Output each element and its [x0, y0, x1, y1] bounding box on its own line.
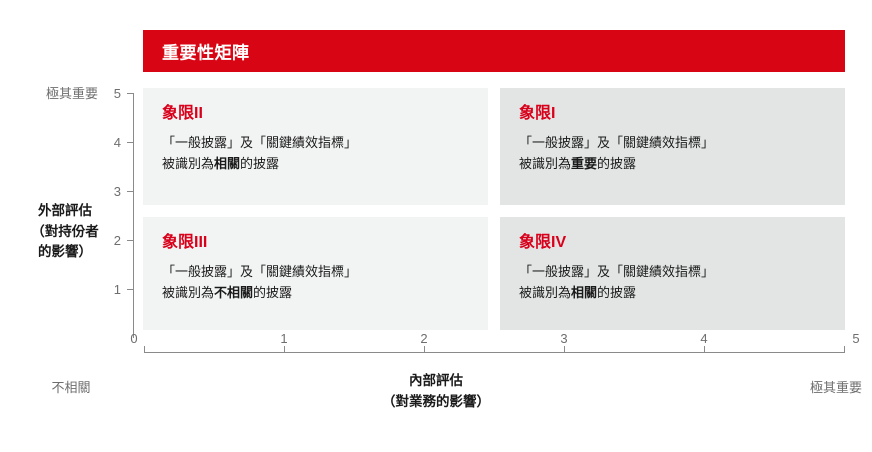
chart-title-bar: 重要性矩陣: [143, 30, 845, 72]
quadrant-4-line1: 「一般披露」及「關鍵績效指標」: [519, 261, 845, 282]
x-axis-title-line2: （對業務的影響）: [0, 392, 872, 413]
quadrant-3-line2: 被識別為不相關的披露: [162, 282, 488, 303]
quadrant-1-line1: 「一般披露」及「關鍵績效指標」: [519, 132, 845, 153]
quadrant-2-line2-prefix: 被識別為: [162, 156, 214, 171]
quadrant-1-box: 象限I 「一般披露」及「關鍵績效指標」 被識別為重要的披露: [500, 88, 845, 205]
quadrant-1-title: 象限I: [519, 105, 845, 123]
y-tick-4: [127, 142, 134, 143]
y-tick-1: [127, 289, 134, 290]
y-tick-2: [127, 240, 134, 241]
x-tick-2: [424, 346, 425, 353]
quadrant-3-box: 象限III 「一般披露」及「關鍵績效指標」 被識別為不相關的披露: [143, 217, 488, 330]
quadrant-4-title: 象限IV: [519, 234, 845, 252]
y-axis-title-line3: 的影響）: [10, 242, 120, 263]
x-tick-label-0: 0: [130, 332, 137, 345]
x-tick-label-4: 4: [700, 332, 707, 345]
materiality-matrix-figure: 重要性矩陣 象限II 「一般披露」及「關鍵績效指標」 被識別為相關的披露 象限I…: [0, 0, 872, 452]
quadrant-2-title: 象限II: [162, 105, 488, 123]
x-tick-label-5: 5: [852, 332, 859, 345]
y-tick-label-4: 4: [108, 136, 121, 149]
quadrant-2-line2: 被識別為相關的披露: [162, 153, 488, 174]
y-tick-label-1: 1: [108, 283, 121, 296]
x-tick-1: [284, 346, 285, 353]
x-tick-label-1: 1: [280, 332, 287, 345]
chart-title: 重要性矩陣: [162, 39, 250, 64]
quadrant-1-line2-suffix: 的披露: [597, 156, 636, 171]
quadrant-4-line2-emphasis: 相關: [571, 285, 597, 300]
quadrant-4-box: 象限IV 「一般披露」及「關鍵績效指標」 被識別為相關的披露: [500, 217, 845, 330]
x-tick-label-3: 3: [560, 332, 567, 345]
quadrant-1-line2: 被識別為重要的披露: [519, 153, 845, 174]
x-tick-0: [144, 346, 145, 353]
quadrant-3-line2-suffix: 的披露: [253, 285, 292, 300]
quadrant-3-line2-prefix: 被識別為: [162, 285, 214, 300]
quadrant-4-line2-suffix: 的披露: [597, 285, 636, 300]
quadrant-2-line2-emphasis: 相關: [214, 156, 240, 171]
quadrant-4-line2: 被識別為相關的披露: [519, 282, 845, 303]
x-tick-label-2: 2: [420, 332, 427, 345]
y-tick-5: [127, 93, 134, 94]
quadrant-2-line2-suffix: 的披露: [240, 156, 279, 171]
quadrant-2-box: 象限II 「一般披露」及「關鍵績效指標」 被識別為相關的披露: [143, 88, 488, 205]
x-tick-3: [564, 346, 565, 353]
x-axis-title: 內部評估 （對業務的影響）: [0, 371, 872, 413]
y-axis-line: [133, 93, 134, 338]
y-axis-title-line2: （對持份者: [10, 222, 120, 243]
quadrant-3-line2-emphasis: 不相關: [214, 285, 253, 300]
x-axis-line: [144, 352, 845, 353]
quadrant-4-line2-prefix: 被識別為: [519, 285, 571, 300]
x-tick-5: [844, 346, 845, 353]
x-tick-4: [704, 346, 705, 353]
x-axis-title-line1: 內部評估: [0, 371, 872, 392]
y-tick-3: [127, 191, 134, 192]
quadrant-1-line2-emphasis: 重要: [571, 156, 597, 171]
quadrant-3-line1: 「一般披露」及「關鍵績效指標」: [162, 261, 488, 282]
y-axis-top-caption: 極其重要: [34, 83, 110, 102]
y-axis-title-line1: 外部評估: [10, 201, 120, 222]
quadrant-3-title: 象限III: [162, 234, 488, 252]
quadrant-1-line2-prefix: 被識別為: [519, 156, 571, 171]
y-tick-label-3: 3: [108, 185, 121, 198]
quadrant-2-line1: 「一般披露」及「關鍵績效指標」: [162, 132, 488, 153]
y-axis-title: 外部評估 （對持份者 的影響）: [10, 201, 120, 263]
